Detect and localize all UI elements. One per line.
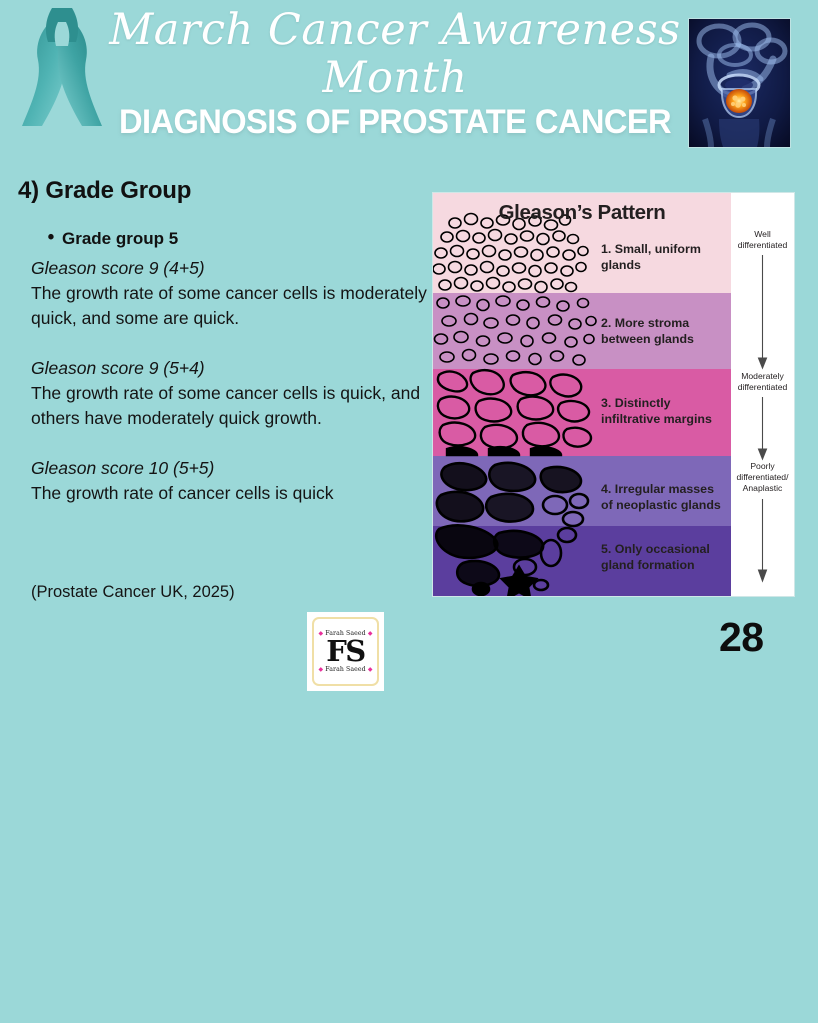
gleason-pattern-label-2: 2. More stroma between glands bbox=[601, 315, 729, 347]
author-logo: ◆ Farah Saeed ◆ FS ◆ Farah Saeed ◆ bbox=[307, 612, 384, 691]
gleason-pattern-label-5: 5. Only occasional gland formation bbox=[601, 541, 729, 573]
page-number: 28 bbox=[719, 614, 764, 661]
figure-title: Gleason’s Pattern bbox=[433, 201, 731, 225]
gleason-bands: Gleason’s Pattern 1. Small, uniform glan… bbox=[433, 193, 731, 596]
gleason-block: Gleason score 9 (5+4) The growth rate of… bbox=[31, 356, 431, 431]
gland-illustration bbox=[433, 193, 603, 596]
gleason-pattern-label-3: 3. Distinctly infiltrative margins bbox=[601, 395, 729, 427]
gleason-score-description: The growth rate of some cancer cells is … bbox=[31, 281, 431, 331]
gleason-pattern-label-1: 1. Small, uniform glands bbox=[601, 241, 729, 273]
logo-name-bottom: ◆ Farah Saeed ◆ bbox=[318, 666, 372, 673]
logo-frame: ◆ Farah Saeed ◆ FS ◆ Farah Saeed ◆ bbox=[312, 617, 379, 686]
citation-text: (Prostate Cancer UK, 2025) bbox=[31, 583, 235, 602]
logo-dot-icon: ◆ bbox=[368, 630, 373, 637]
logo-name-bottom-text: Farah Saeed bbox=[325, 666, 365, 673]
gleason-block: Gleason score 10 (5+5) The growth rate o… bbox=[31, 456, 431, 506]
page-title: March Cancer Awareness Month bbox=[95, 6, 695, 102]
bullet-dot-icon: • bbox=[40, 228, 62, 247]
differentiation-label-moderate: Moderately differentiated bbox=[731, 371, 794, 393]
prostate-anatomy-image bbox=[688, 18, 791, 148]
grade-group-bullet: •Grade group 5 bbox=[40, 228, 420, 249]
logo-dot-icon: ◆ bbox=[318, 666, 323, 673]
gleason-score-label: Gleason score 9 (5+4) bbox=[31, 356, 431, 381]
gleason-score-label: Gleason score 10 (5+5) bbox=[31, 456, 431, 481]
gleason-pattern-label-4: 4. Irregular masses of neoplastic glands bbox=[601, 481, 729, 513]
differentiation-label-well: Well differentiated bbox=[731, 229, 794, 251]
gleason-score-description: The growth rate of cancer cells is quick bbox=[31, 481, 431, 506]
gleason-score-description: The growth rate of some cancer cells is … bbox=[31, 381, 431, 431]
logo-dot-icon: ◆ bbox=[368, 666, 373, 673]
gleason-block: Gleason score 9 (4+5) The growth rate of… bbox=[31, 256, 431, 331]
grade-group-bullet-label: Grade group 5 bbox=[62, 229, 178, 248]
page-section-heading: 4) Grade Group bbox=[18, 177, 191, 205]
gleason-pattern-figure: Gleason’s Pattern 1. Small, uniform glan… bbox=[432, 192, 795, 597]
differentiation-axis: Well differentiated Moderately different… bbox=[731, 193, 794, 596]
differentiation-label-poor: Poorly differentiated/ Anaplastic bbox=[731, 461, 794, 494]
logo-dot-icon: ◆ bbox=[318, 630, 323, 637]
slide-header: March Cancer Awareness Month DIAGNOSIS O… bbox=[0, 0, 818, 155]
header-title-group: March Cancer Awareness Month DIAGNOSIS O… bbox=[95, 6, 695, 140]
gleason-score-label: Gleason score 9 (4+5) bbox=[31, 256, 431, 281]
grade-group-body: Gleason score 9 (4+5) The growth rate of… bbox=[31, 256, 431, 506]
logo-monogram: FS bbox=[326, 638, 365, 665]
page-subtitle: DIAGNOSIS OF PROSTATE CANCER bbox=[107, 104, 683, 140]
differentiation-arrow-icon bbox=[731, 193, 794, 596]
